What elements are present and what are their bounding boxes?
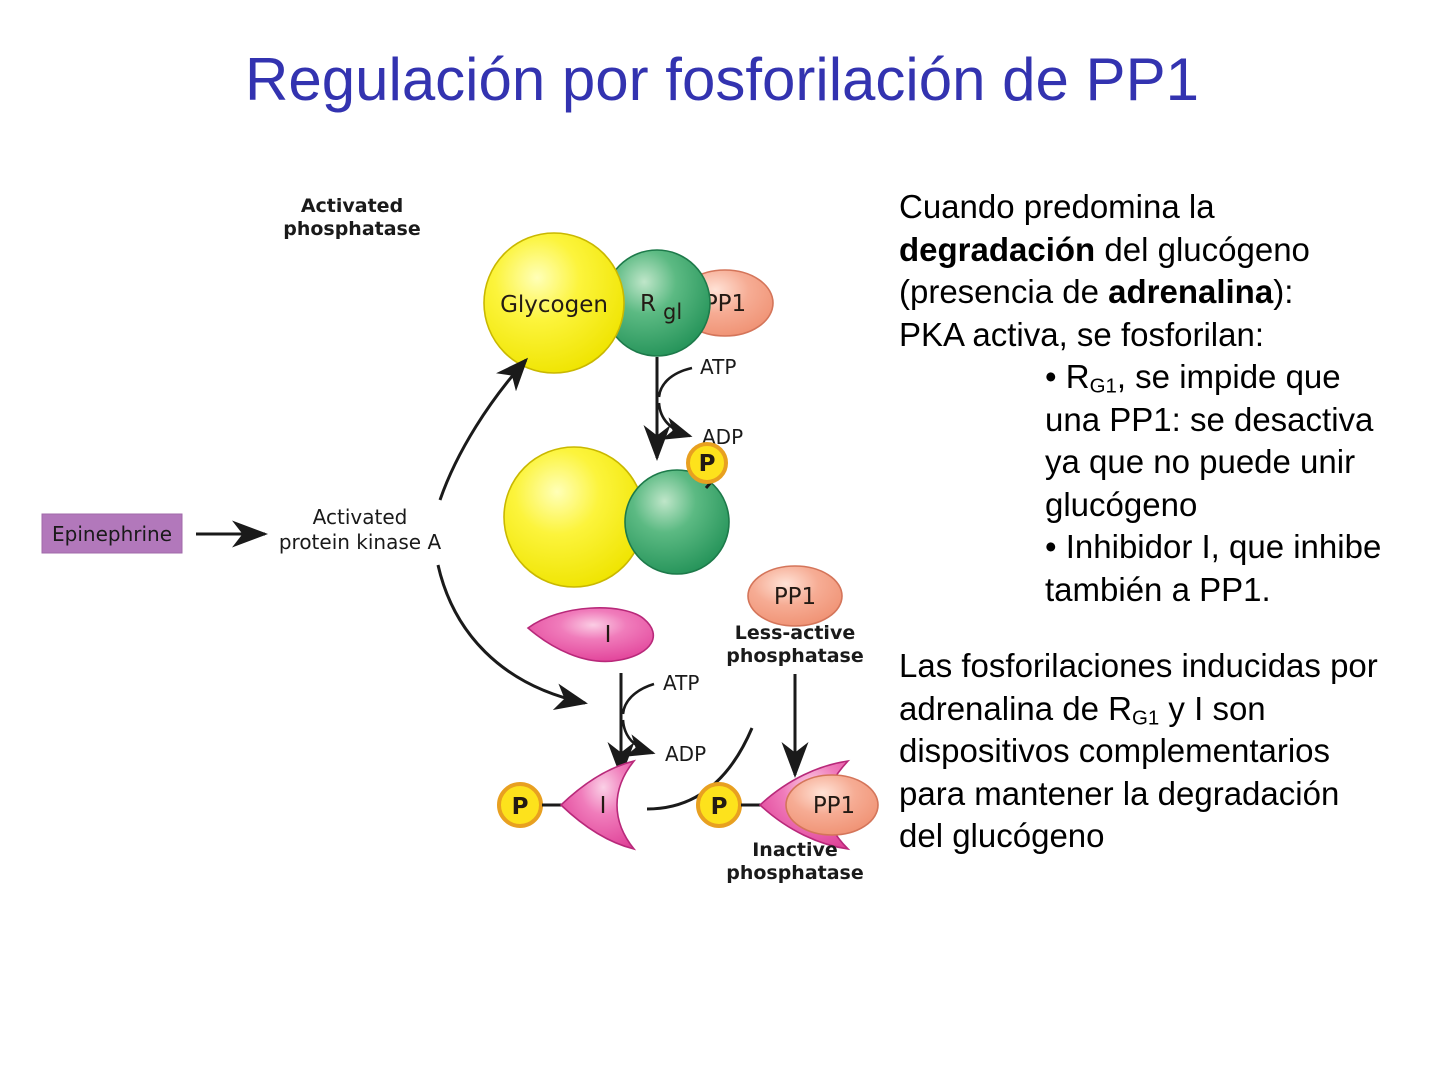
- label-less-active-line1: Less-active: [735, 622, 855, 644]
- explanation-text-column: Cuando predomina la degradación del gluc…: [899, 186, 1444, 858]
- label-adp-bottom: ADP: [665, 742, 706, 766]
- p2-rg1-subscript: G1: [1132, 706, 1159, 729]
- p1-line2-rest: del glucógeno: [1095, 231, 1310, 268]
- p1-bold-adrenalina: adrenalina: [1108, 273, 1273, 310]
- p1-line3: (presencia de adrenalina):: [899, 271, 1444, 314]
- bullet-list: • RG1, se impide que una PP1: se desacti…: [1045, 356, 1444, 611]
- label-atp-top: ATP: [700, 355, 736, 379]
- bullet-marker-1: •: [1045, 358, 1057, 395]
- node-pp1-less-active-label: PP1: [774, 584, 816, 610]
- label-inactive-line2: phosphatase: [726, 862, 864, 884]
- node-phosphate-right-label: P: [711, 794, 728, 820]
- node-glycogen-mid: [504, 447, 644, 587]
- p1-line2: degradación del glucógeno: [899, 229, 1444, 272]
- p1-bold-degradacion: degradación: [899, 231, 1095, 268]
- bullet-item-inhibidor-line2: también a PP1.: [1045, 569, 1444, 612]
- node-glycogen-top-label: Glycogen: [500, 292, 608, 318]
- paragraph-spacer: [899, 611, 1444, 645]
- p1-line3-post: ):: [1273, 273, 1293, 310]
- bullet-item-inhibidor-line1: • Inhibidor I, que inhibe: [1045, 526, 1444, 569]
- label-less-active-line2: phosphatase: [726, 645, 864, 667]
- arrow-atp-in-bottom: [623, 684, 654, 714]
- label-inactive-line1: Inactive: [752, 839, 838, 861]
- bullet-rg1-rest: , se impide que: [1117, 358, 1341, 395]
- p2-line3: dispositivos complementarios: [899, 730, 1444, 773]
- node-inhibitor-phospho-label: I: [600, 793, 607, 819]
- bullet-inhibidor-text: Inhibidor I, que inhibe: [1066, 528, 1382, 565]
- p2-line1: Las fosforilaciones inducidas por: [899, 645, 1444, 688]
- node-inhibitor-i-label: I: [605, 622, 612, 648]
- page-title: Regulación por fosforilación de PP1: [0, 44, 1444, 116]
- label-activated-phosphatase-line1: Activated: [301, 195, 403, 217]
- node-pp1-inactive-label: PP1: [813, 793, 855, 819]
- label-atp-bottom: ATP: [663, 671, 699, 695]
- p2-line2: adrenalina de RG1 y I son: [899, 688, 1444, 731]
- bullet-item-rg1-line1: • RG1, se impide que: [1045, 356, 1444, 399]
- p2-line2-a: adrenalina de R: [899, 690, 1132, 727]
- p1-line4: PKA activa, se fosforilan:: [899, 314, 1444, 357]
- label-epinephrine: Epinephrine: [52, 522, 172, 546]
- arrow-adp-out-bottom: [623, 720, 653, 753]
- pathway-diagram: Activated phosphatase PP1 R gl Glycogen …: [20, 175, 890, 895]
- node-inhibitor-i: [528, 608, 653, 662]
- bullet-item-rg1-line3: ya que no puede unir: [1045, 441, 1444, 484]
- arrow-atp-in-top: [659, 368, 692, 397]
- p2-line2-b: y I son: [1159, 690, 1265, 727]
- bullet-item-rg1-line2: una PP1: se desactiva: [1045, 399, 1444, 442]
- node-rgl-top-sub: gl: [663, 300, 682, 324]
- p2-line5: del glucógeno: [899, 815, 1444, 858]
- bullet-item-rg1-line4: glucógeno: [1045, 484, 1444, 527]
- bullet-rg1-subscript: G1: [1090, 375, 1117, 398]
- bullet-rg1-symbol: R: [1066, 358, 1090, 395]
- node-rgl-mid: [625, 470, 729, 574]
- node-rgl-top-label: R: [640, 291, 656, 317]
- node-phosphate-mid-label: P: [699, 451, 716, 477]
- p1-line1: Cuando predomina la: [899, 186, 1444, 229]
- paragraph-1: Cuando predomina la degradación del gluc…: [899, 186, 1444, 356]
- bullet-marker-2: •: [1045, 528, 1057, 565]
- node-inhibitor-phospho: [561, 761, 634, 849]
- arrow-pka-to-top: [440, 360, 526, 500]
- node-phosphate-left-label: P: [512, 794, 529, 820]
- p2-line4: para mantener la degradación: [899, 773, 1444, 816]
- arrow-adp-out-top: [659, 403, 690, 436]
- paragraph-2: Las fosforilaciones inducidas por adrena…: [899, 645, 1444, 858]
- label-activated-phosphatase-line2: phosphatase: [283, 218, 421, 240]
- label-pka-line2: protein kinase A: [279, 530, 442, 554]
- label-pka-line1: Activated: [313, 505, 408, 529]
- p1-line3-pre: (presencia de: [899, 273, 1108, 310]
